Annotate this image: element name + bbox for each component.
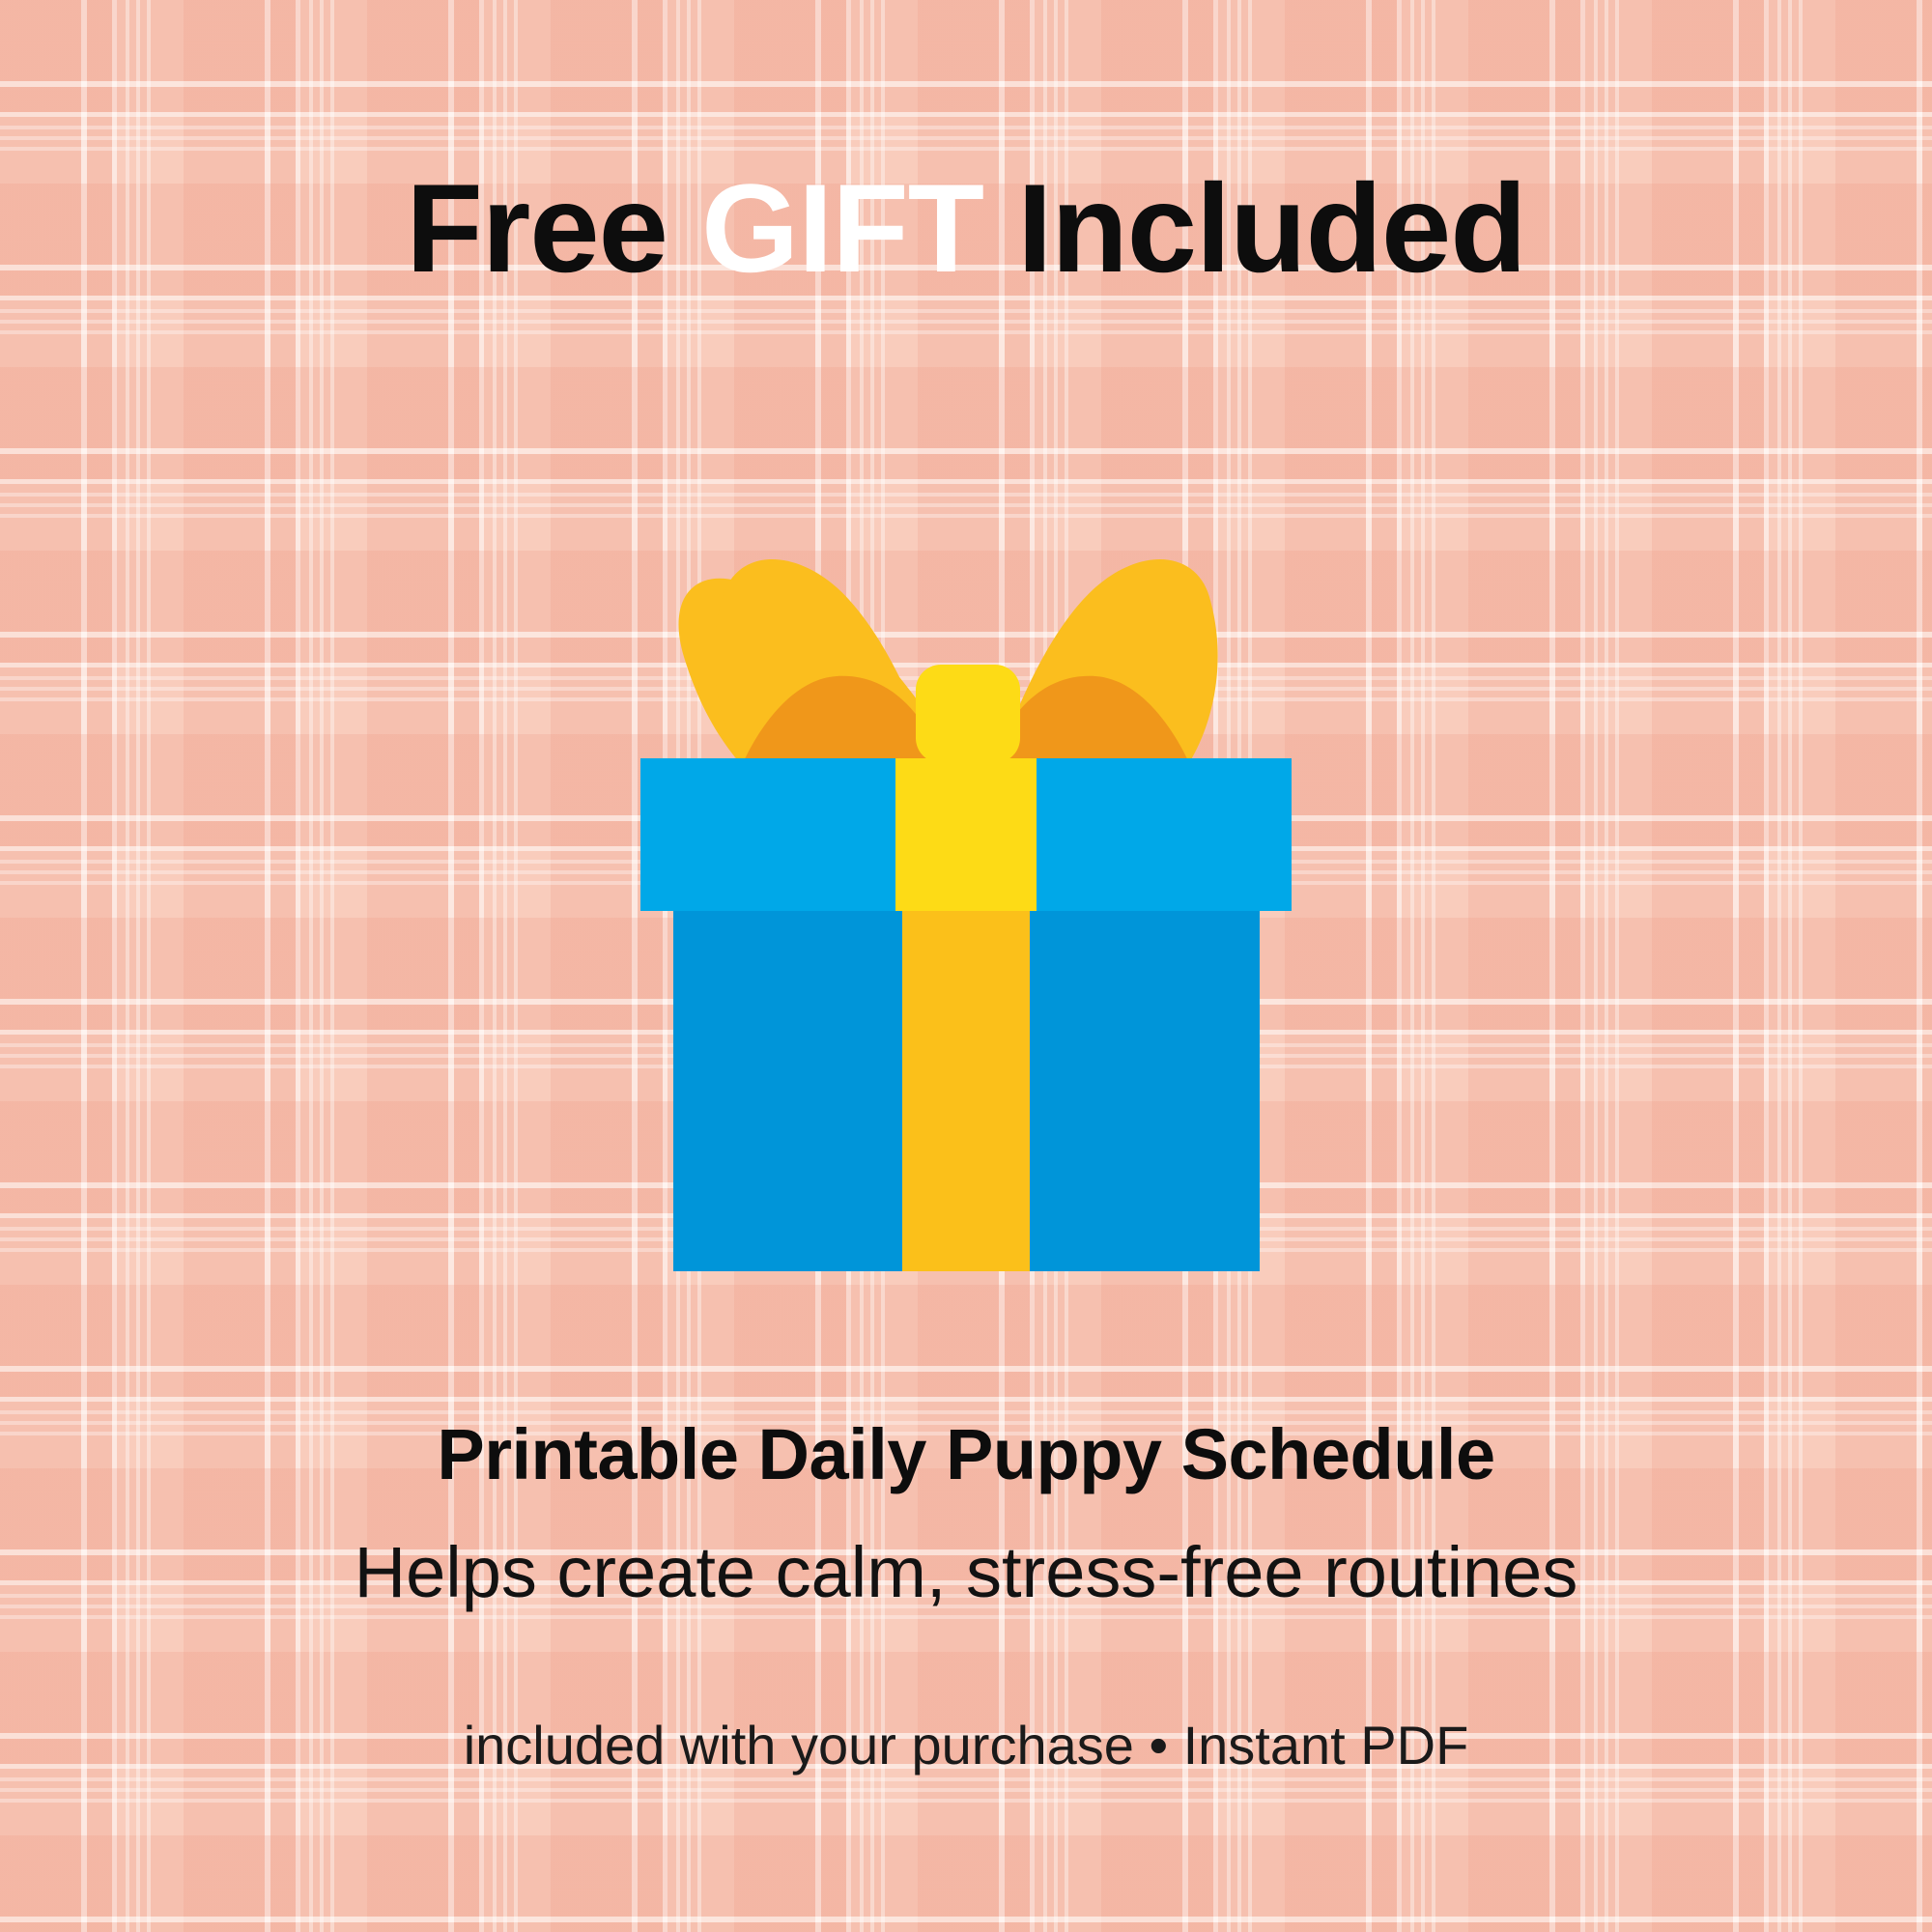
- bow-loop-left-shadow: [744, 676, 942, 761]
- bow-loop-left-base: [719, 573, 942, 763]
- promo-graphic-canvas: Free GIFT Included Printable D: [0, 0, 1932, 1932]
- bow-loop-left: [679, 577, 942, 763]
- product-title: Printable Daily Puppy Schedule: [0, 1415, 1932, 1493]
- content-stack: Free GIFT Included Printable D: [0, 0, 1932, 1932]
- headline-prefix: Free: [406, 157, 701, 298]
- headline: Free GIFT Included: [0, 162, 1932, 295]
- headline-suffix: Included: [983, 157, 1526, 298]
- gift-box-lid: [640, 758, 1292, 911]
- bow-loop-right-shadow: [990, 676, 1188, 761]
- bow-loop-left-shape: [714, 559, 927, 761]
- bow-loop-right-shape: [1005, 559, 1218, 761]
- product-footer-note: included with your purchase • Instant PD…: [0, 1715, 1932, 1776]
- bow-knot: [916, 665, 1020, 763]
- headline-accent-gift: GIFT: [701, 157, 983, 298]
- gift-box-lid-ribbon: [895, 758, 1037, 911]
- gift-box-body-ribbon: [902, 911, 1030, 1271]
- gift-box-body: [673, 911, 1260, 1271]
- product-subtitle: Helps create calm, stress-free routines: [0, 1531, 1932, 1613]
